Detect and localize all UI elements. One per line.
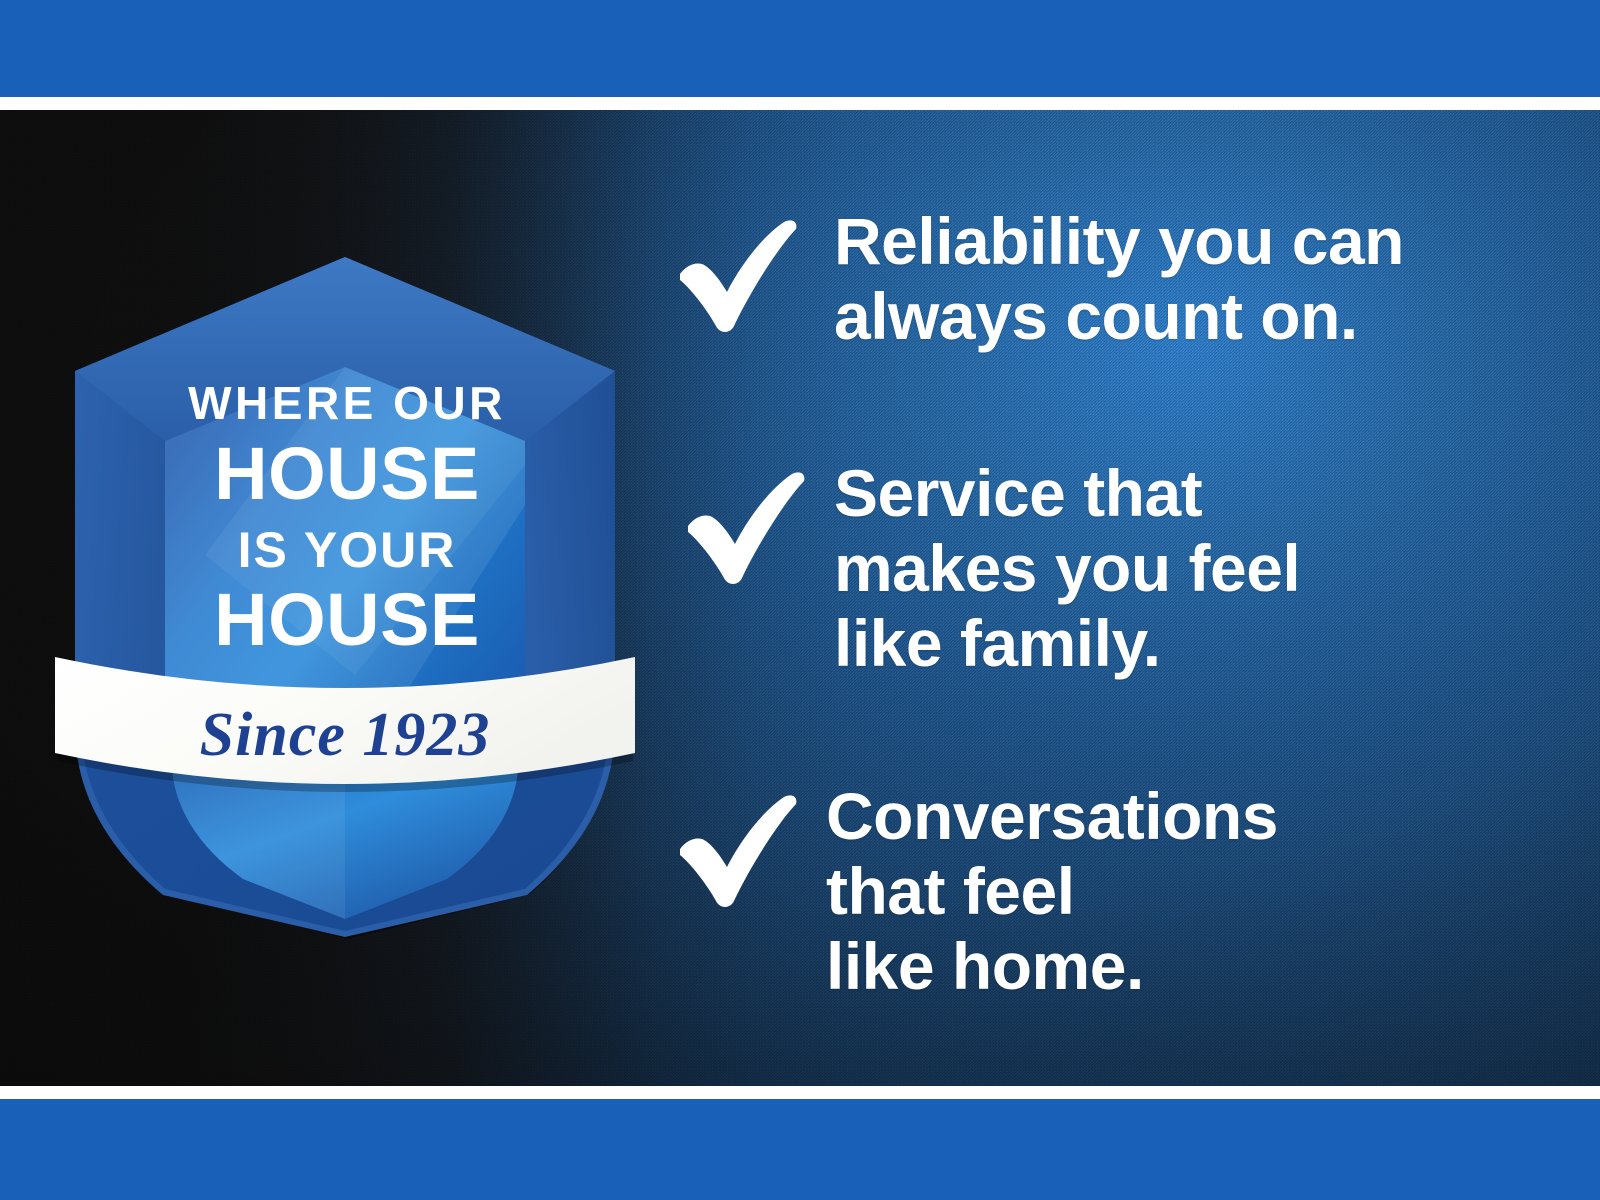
benefit-text-2: Service that makes you feel like family. xyxy=(834,456,1300,682)
benefit-text-1: Reliability you can always count on. xyxy=(834,204,1404,354)
shield-line-2: HOUSE xyxy=(214,432,480,515)
benefit-text-3: Conversations that feel like home. xyxy=(826,779,1278,1005)
benefit-item-2: Service that makes you feel like family. xyxy=(680,462,1300,682)
shield-line-3: IS YOUR xyxy=(238,522,457,578)
benefit-item-1: Reliability you can always count on. xyxy=(672,210,1404,354)
top-brand-bar xyxy=(0,0,1600,97)
promo-graphic: WHERE OUR HOUSE IS YOUR HOUSE Since 1923… xyxy=(0,0,1600,1200)
shield-line-1: WHERE OUR xyxy=(188,377,506,429)
check-icon xyxy=(672,216,802,334)
benefit-item-3: Conversations that feel like home. xyxy=(672,785,1278,1005)
check-icon xyxy=(680,468,810,586)
ribbon-since-text: Since 1923 xyxy=(200,701,491,769)
company-shield-logo: WHERE OUR HOUSE IS YOUR HOUSE Since 1923 xyxy=(55,255,635,935)
check-icon xyxy=(672,791,802,909)
benefits-list: Reliability you can always count on. Ser… xyxy=(672,110,1572,1086)
shield-line-4: HOUSE xyxy=(214,578,480,661)
bottom-brand-bar xyxy=(0,1099,1600,1200)
main-canvas: WHERE OUR HOUSE IS YOUR HOUSE Since 1923… xyxy=(0,110,1600,1086)
